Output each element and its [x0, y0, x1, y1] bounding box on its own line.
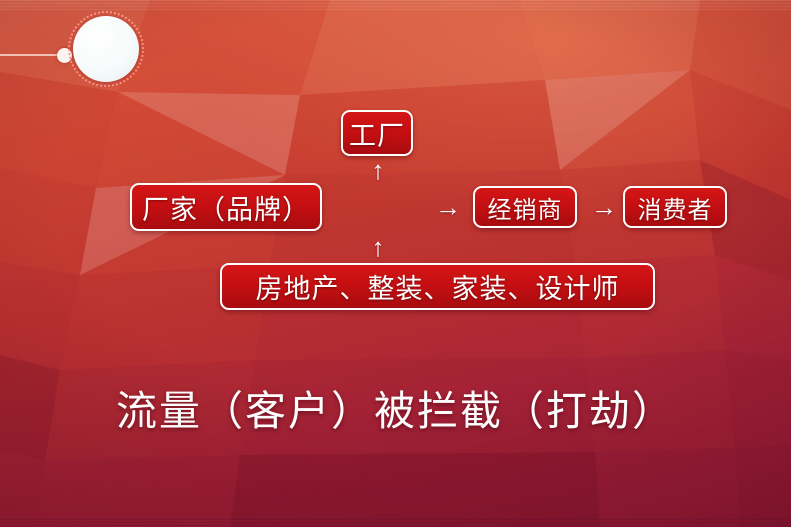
node-maker-brand[interactable]: 厂家（品牌） — [130, 183, 322, 231]
arrow-up-to-factory-icon: ↑ — [368, 157, 388, 185]
arrow-right-to-dealer-icon: → — [428, 194, 468, 220]
badge-circle-icon — [73, 16, 139, 82]
node-dealer[interactable]: 经销商 — [473, 186, 577, 228]
slide-caption: 流量（客户）被拦截（打劫） — [0, 377, 791, 437]
node-channels[interactable]: 房地产、整装、家装、设计师 — [220, 263, 655, 310]
arrow-right-to-consumer-icon: → — [588, 194, 620, 220]
node-consumer[interactable]: 消费者 — [623, 186, 727, 228]
circle-badge — [0, 10, 160, 100]
node-factory[interactable]: 工厂 — [341, 110, 413, 156]
slide-canvas: 工厂 厂家（品牌） 经销商 消费者 房地产、整装、家装、设计师 ↑ ↑ → → … — [0, 0, 791, 527]
arrow-up-from-channels-icon: ↑ — [368, 234, 388, 262]
